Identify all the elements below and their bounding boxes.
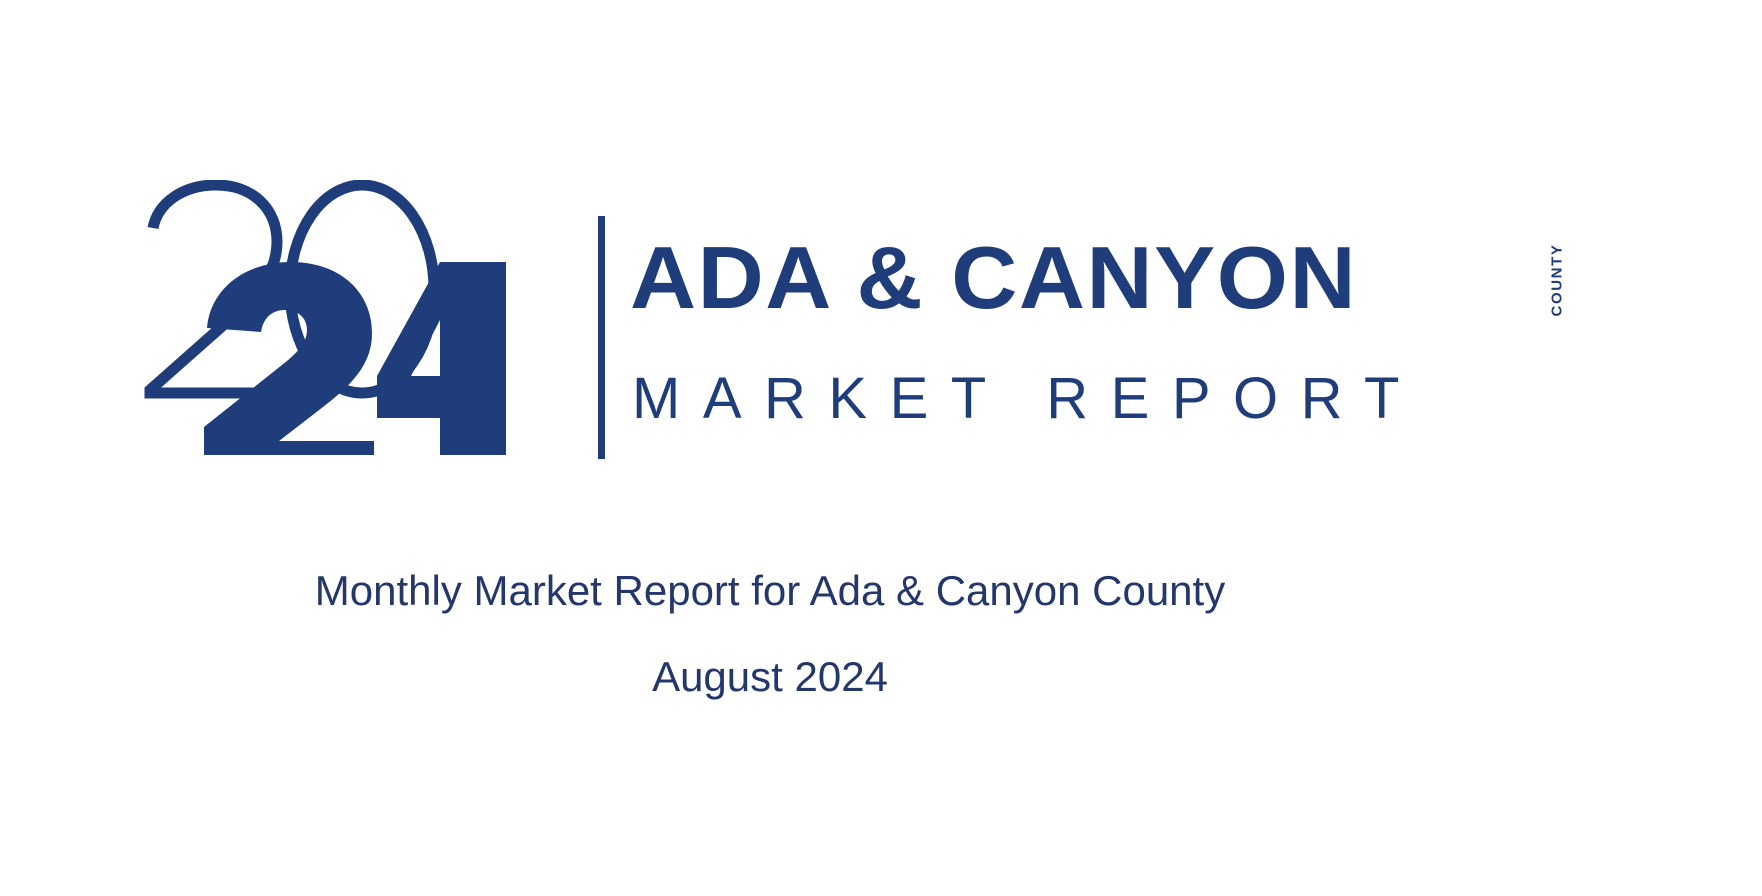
- solid-24-group: [204, 262, 506, 455]
- report-cover-page: ADA & CANYON COUNTY MARKET REPORT Monthl…: [0, 0, 1762, 896]
- wordmark-ada-canyon-text: ADA & CANYON: [630, 232, 1357, 324]
- solid-digit-2: [204, 262, 374, 455]
- wordmark-primary-line: ADA & CANYON: [630, 232, 1329, 324]
- report-subtitle: Monthly Market Report for Ada & Canyon C…: [0, 548, 1540, 634]
- wordmark-county-superscript: COUNTY: [1548, 234, 1566, 326]
- wordmark-secondary-line: MARKET REPORT: [632, 366, 1422, 432]
- solid-digit-4: [377, 262, 506, 455]
- report-period: August 2024: [0, 634, 1540, 720]
- brand-wordmark: ADA & CANYON COUNTY MARKET REPORT: [630, 180, 1580, 455]
- year-monogram-2024: [140, 180, 520, 455]
- brand-logo-lockup: ADA & CANYON COUNTY MARKET REPORT: [140, 180, 1580, 470]
- wordmark-market-report-text: MARKET REPORT: [632, 366, 1422, 432]
- cover-caption-block: Monthly Market Report for Ada & Canyon C…: [0, 548, 1540, 720]
- wordmark-county-text: COUNTY: [1549, 244, 1566, 317]
- logo-divider-rule: [598, 216, 605, 459]
